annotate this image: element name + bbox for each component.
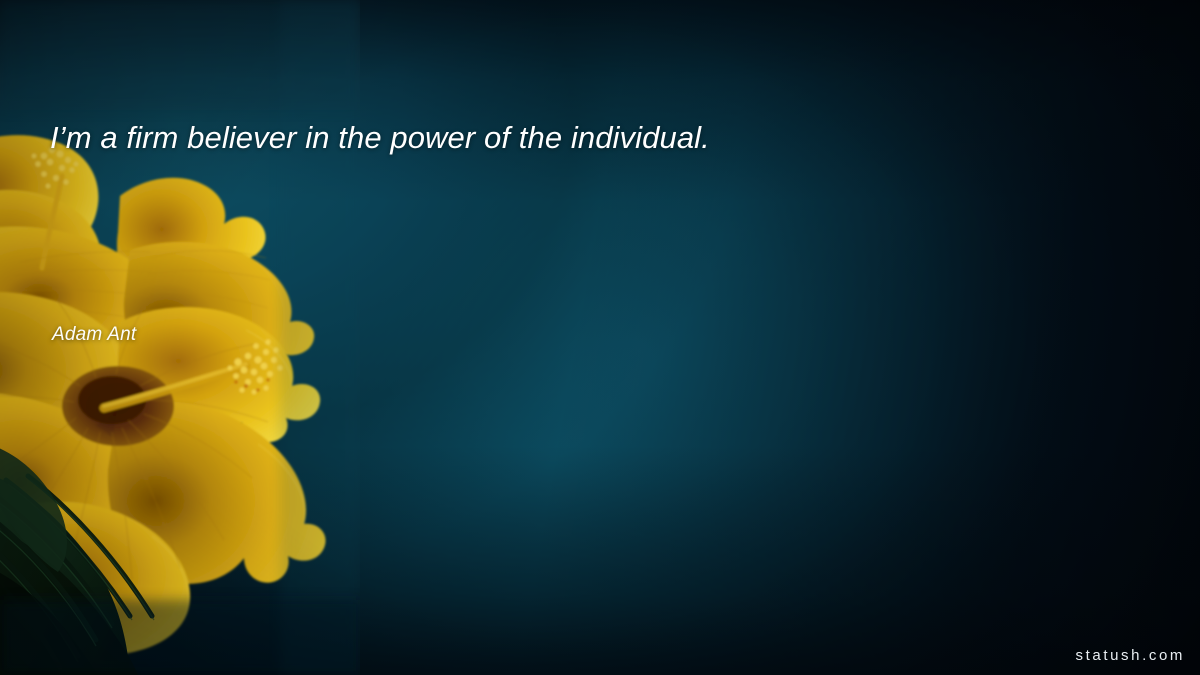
site-watermark: statush.com [1076,646,1185,665]
background-vignette [0,0,1200,675]
quote-image-card: I’m a firm believer in the power of the … [0,0,1200,675]
quote-text: I’m a firm believer in the power of the … [50,118,1050,158]
quote-author: Adam Ant [52,322,136,348]
